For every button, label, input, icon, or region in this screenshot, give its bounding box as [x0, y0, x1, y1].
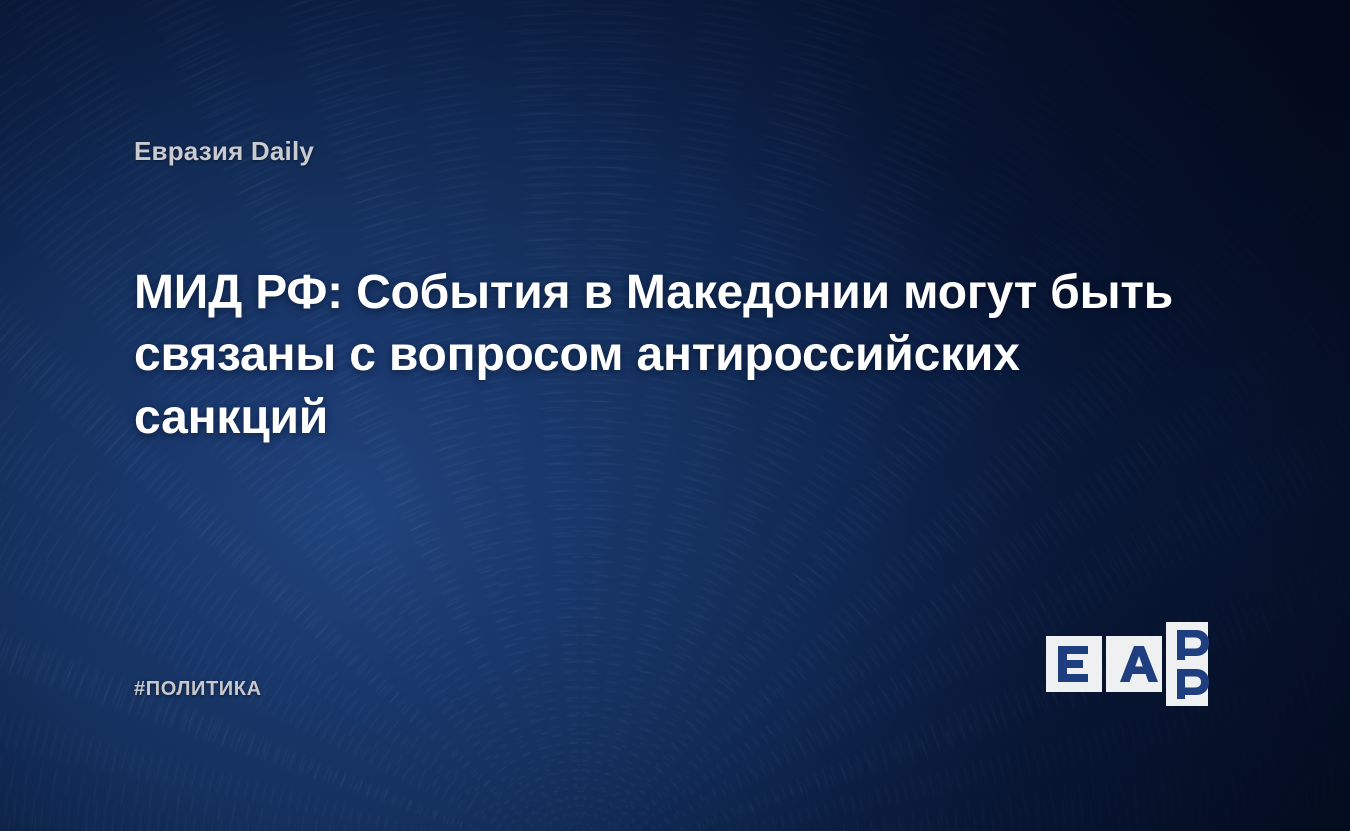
logo-letter-a-icon	[1120, 646, 1158, 682]
news-share-card: Евразия Daily МИД РФ: События в Македони…	[0, 0, 1350, 831]
article-headline: МИД РФ: События в Македонии могут быть с…	[134, 262, 1194, 449]
category-hashtag: #ПОЛИТИКА	[134, 678, 262, 701]
card-content: Евразия Daily МИД РФ: События в Македони…	[0, 0, 1350, 831]
logo-letter-d-bottom-icon	[1177, 669, 1209, 699]
logo-letter-e-icon	[1058, 646, 1088, 682]
eadaily-logo	[1046, 622, 1222, 706]
site-name: Евразия Daily	[134, 136, 314, 167]
logo-letters-icon	[1046, 622, 1222, 706]
logo-letter-d-top-icon	[1177, 630, 1209, 660]
